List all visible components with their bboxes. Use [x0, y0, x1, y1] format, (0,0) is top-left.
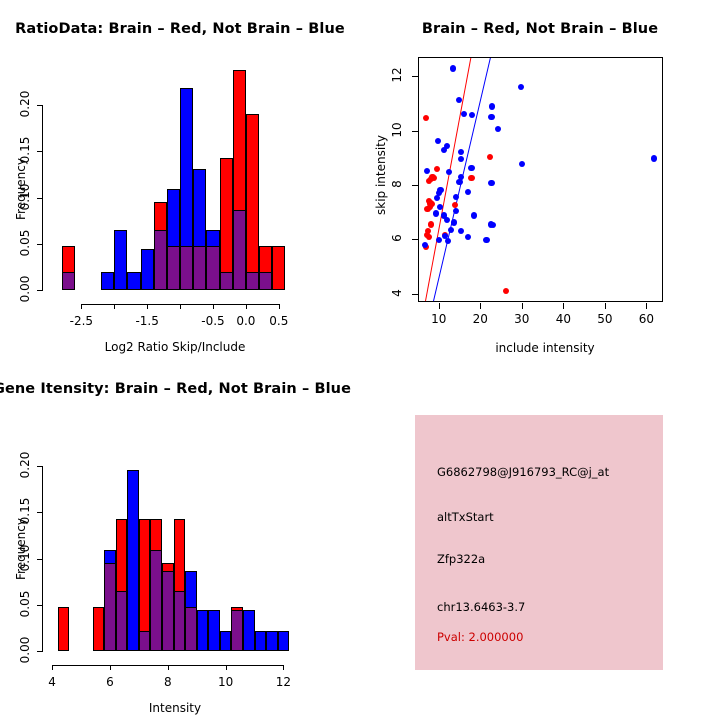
y-axis-tick [37, 105, 42, 106]
scatter-point [441, 147, 447, 153]
scatter-point [434, 166, 440, 172]
y-axis-tick-label: 6 [390, 227, 404, 249]
x-axis-tick [168, 665, 169, 670]
scatter-point [428, 221, 434, 227]
histogram-bar [220, 158, 233, 290]
scatter-point [461, 111, 467, 117]
histogram-bar [208, 610, 220, 651]
scatter-point [469, 112, 475, 118]
scatter-point [435, 138, 441, 144]
gene-info-panel: G6862798@J916793_RC@j_at altTxStart Zfp3… [415, 415, 663, 670]
x-axis-tick-label: 10 [206, 675, 246, 689]
ratio-histogram-plot-area: 0.000.050.100.150.20-2.5-1.5-0.50.00.5 [0, 0, 360, 360]
scatter-point [487, 154, 493, 160]
histogram-bar-overlap [150, 550, 162, 651]
histogram-bar [114, 230, 127, 290]
x-axis-tick [283, 665, 284, 670]
scatter-point [490, 222, 496, 228]
histogram-bar [255, 631, 267, 651]
y-axis-line [42, 466, 43, 652]
scatter-point [429, 174, 435, 180]
info-probe-id: G6862798@J916793_RC@j_at [437, 465, 609, 479]
scatter-point [465, 234, 471, 240]
y-axis-tick-label: 10 [390, 119, 404, 141]
y-axis-tick [37, 512, 42, 513]
scatter-point [488, 114, 494, 120]
y-axis-tick [412, 185, 418, 186]
scatter-plot-area: 4681012102030405060 [360, 0, 720, 360]
y-axis-tick [37, 466, 42, 467]
x-axis-tick-label: -1.5 [127, 314, 167, 328]
scatter-point [465, 189, 471, 195]
y-axis-tick-label: 8 [390, 173, 404, 195]
x-axis-tick [480, 303, 481, 309]
x-axis-tick [226, 665, 227, 670]
y-axis-tick-label: 12 [390, 64, 404, 86]
histogram-bar-overlap [154, 230, 167, 290]
y-axis-tick [37, 198, 42, 199]
scatter-point [437, 204, 443, 210]
histogram-bar [220, 631, 232, 651]
histogram-bar-overlap [174, 591, 186, 651]
y-axis-tick [412, 131, 418, 132]
x-axis-tick-label: 40 [543, 312, 583, 326]
x-axis-tick-label: 30 [502, 312, 542, 326]
panel-ratio-histogram: RatioData: Brain – Red, Not Brain – Blue… [0, 0, 360, 360]
y-axis-tick-label: 0.10 [18, 179, 32, 215]
info-pval: Pval: 2.000000 [437, 630, 523, 644]
scatter-point [468, 165, 474, 171]
histogram-bar [243, 610, 255, 651]
scatter-point [424, 168, 430, 174]
x-axis-tick [81, 304, 82, 309]
histogram-bar [93, 607, 105, 651]
panel-gene-histogram: Gene Itensity: Brain – Red, Not Brain – … [0, 360, 360, 720]
scatter-point [448, 227, 454, 233]
scatter-point [519, 161, 525, 167]
scatter-point [456, 179, 462, 185]
histogram-bar [197, 610, 209, 651]
x-axis-tick-label: 60 [626, 312, 666, 326]
histogram-bar-overlap [220, 272, 233, 291]
histogram-bar-overlap [180, 246, 193, 290]
x-axis-tick [646, 303, 647, 309]
scatter-point [453, 208, 459, 214]
info-event-type: altTxStart [437, 510, 494, 524]
x-axis-tick-label: 12 [263, 675, 303, 689]
panel-scatter: Brain – Red, Not Brain – Blue skip inten… [360, 0, 720, 360]
histogram-bar [246, 114, 259, 290]
scatter-point [451, 219, 457, 225]
scatter-point [483, 237, 489, 243]
scatter-point [651, 155, 657, 161]
scatter-point [456, 97, 462, 103]
x-axis-tick-label: -2.5 [61, 314, 101, 328]
y-axis-tick [412, 76, 418, 77]
x-axis-tick-label: 0.5 [259, 314, 299, 328]
y-axis-tick [37, 290, 42, 291]
histogram-bar [58, 607, 70, 651]
histogram-bar-overlap [185, 607, 197, 651]
histogram-bar [272, 246, 285, 290]
x-axis-tick [110, 665, 111, 670]
histogram-bar-overlap [233, 210, 246, 290]
x-axis-tick [114, 304, 115, 309]
histogram-bar-overlap [167, 246, 180, 290]
scatter-point [426, 234, 432, 240]
scatter-point [489, 103, 495, 109]
scatter-point [423, 115, 429, 121]
y-axis-tick-label: 4 [390, 282, 404, 304]
x-axis-tick-label: 20 [460, 312, 500, 326]
histogram-bar-overlap [162, 571, 174, 651]
y-axis-tick-label: 0.15 [18, 493, 32, 529]
scatter-point [445, 238, 451, 244]
x-axis-tick [522, 303, 523, 309]
scatter-point [495, 126, 501, 132]
y-axis-tick-label: 0.05 [18, 225, 32, 261]
y-axis-tick [37, 244, 42, 245]
histogram-bar [141, 249, 154, 290]
y-axis-tick [37, 605, 42, 606]
histogram-bar-overlap [193, 246, 206, 290]
histogram-bar-overlap [139, 631, 151, 651]
scatter-point [458, 149, 464, 155]
x-axis-tick-label: 8 [148, 675, 188, 689]
x-axis-tick [605, 303, 606, 309]
x-axis-tick [147, 304, 148, 309]
scatter-point [433, 210, 439, 216]
scatter-point [450, 65, 456, 71]
histogram-bar [127, 470, 139, 651]
y-axis-tick [412, 239, 418, 240]
histogram-bar-overlap [116, 591, 128, 651]
scatter-point [503, 288, 509, 294]
y-axis-tick-label: 0.20 [18, 447, 32, 483]
scatter-point [458, 228, 464, 234]
x-axis-tick [279, 304, 280, 309]
histogram-bar-overlap [259, 272, 272, 291]
x-axis-tick-label: 10 [419, 312, 459, 326]
x-axis-tick-label: 4 [32, 675, 72, 689]
scatter-point [468, 175, 474, 181]
y-axis-tick-label: 0.20 [18, 86, 32, 122]
histogram-bar-overlap [231, 610, 243, 651]
scatter-point [488, 180, 494, 186]
scatter-point [446, 169, 452, 175]
y-axis-tick [37, 559, 42, 560]
y-axis-line [42, 105, 43, 291]
y-axis-tick-label: 0.10 [18, 540, 32, 576]
scatter-point [427, 204, 433, 210]
histogram-bar-overlap [104, 563, 116, 651]
scatter-point [434, 195, 440, 201]
y-axis-tick-label: 0.00 [18, 271, 32, 307]
x-axis-tick [213, 304, 214, 309]
histogram-bar-overlap [62, 272, 75, 291]
y-axis-tick-label: 0.15 [18, 132, 32, 168]
scatter-point [518, 84, 524, 90]
scatter-point [471, 212, 477, 218]
histogram-bar [101, 272, 114, 291]
scatter-point [458, 156, 464, 162]
histogram-bar [127, 272, 140, 291]
y-axis-tick [37, 651, 42, 652]
scatter-point [453, 194, 459, 200]
histogram-bar-overlap [246, 272, 259, 291]
figure-canvas: RatioData: Brain – Red, Not Brain – Blue… [0, 0, 720, 720]
gene-histogram-plot-area: 0.000.050.100.150.204681012 [0, 360, 360, 720]
x-axis-tick [439, 303, 440, 309]
x-axis-tick [563, 303, 564, 309]
y-axis-tick [412, 294, 418, 295]
info-locus: chr13.6463-3.7 [437, 600, 525, 614]
info-gene-symbol: Zfp322a [437, 552, 485, 566]
histogram-bar [266, 631, 278, 651]
histogram-bar [278, 631, 290, 651]
x-axis-tick-label: 50 [585, 312, 625, 326]
x-axis-tick [246, 304, 247, 309]
scatter-point [436, 237, 442, 243]
y-axis-tick-label: 0.00 [18, 632, 32, 668]
x-axis-tick [52, 665, 53, 670]
x-axis-tick [180, 304, 181, 309]
scatter-clip [419, 58, 663, 302]
y-axis-tick [37, 151, 42, 152]
scatter-point [422, 242, 428, 248]
x-axis-tick-label: 6 [90, 675, 130, 689]
histogram-bar-overlap [206, 246, 219, 290]
scatter-point [444, 217, 450, 223]
y-axis-tick-label: 0.05 [18, 586, 32, 622]
